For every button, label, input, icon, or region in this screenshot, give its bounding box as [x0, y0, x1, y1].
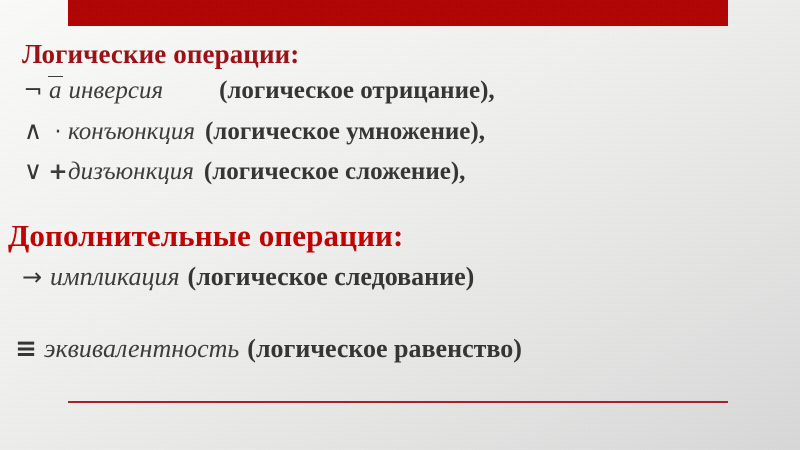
- operation-gloss-conjunction: (логическое умножение),: [205, 118, 485, 146]
- slide-canvas: Логические операции: ¬ a инверсия (логич…: [0, 0, 800, 450]
- operation-row-conjunction: ∧ · конъюнкция (логическое умножение),: [18, 116, 485, 146]
- operation-gloss-negation: (логическое отрицание),: [219, 77, 495, 105]
- operation-term-conjunction: конъюнкция: [68, 118, 195, 146]
- top-accent-bar: [68, 0, 728, 26]
- operation-term-equivalence: эквивалентность: [44, 334, 239, 364]
- equivalence-symbol: ≡: [8, 334, 44, 364]
- operation-row-implication: → импликация (логическое следование): [14, 262, 474, 292]
- negation-symbol: ¬: [18, 78, 48, 104]
- section-title-additional-operations: Дополнительные операции:: [8, 218, 403, 254]
- operation-row-negation: ¬ a инверсия (логическое отрицание),: [18, 76, 495, 105]
- operation-term-implication: импликация: [50, 262, 180, 292]
- multiplication-dot-icon: ·: [48, 120, 68, 145]
- conjunction-symbol: ∧: [18, 116, 48, 145]
- bottom-divider-rule: [68, 401, 728, 403]
- disjunction-symbol: ∨: [18, 156, 48, 185]
- implication-arrow-icon: →: [14, 263, 50, 291]
- variable-a-with-overline: a: [48, 76, 63, 103]
- operation-row-disjunction: ∨ + дизъюнкция (логическое сложение),: [18, 156, 465, 186]
- operation-term-inversion: инверсия: [69, 77, 164, 105]
- operation-row-equivalence: ≡ эквивалентность (логическое равенство): [8, 334, 522, 364]
- plus-sign-icon: +: [48, 159, 68, 185]
- operation-gloss-implication: (логическое следование): [188, 262, 475, 292]
- operation-gloss-disjunction: (логическое сложение),: [204, 158, 466, 186]
- page-title-logical-operations: Логические операции:: [22, 39, 299, 70]
- operation-gloss-equivalence: (логическое равенство): [247, 334, 522, 364]
- operation-term-disjunction: дизъюнкция: [68, 158, 194, 186]
